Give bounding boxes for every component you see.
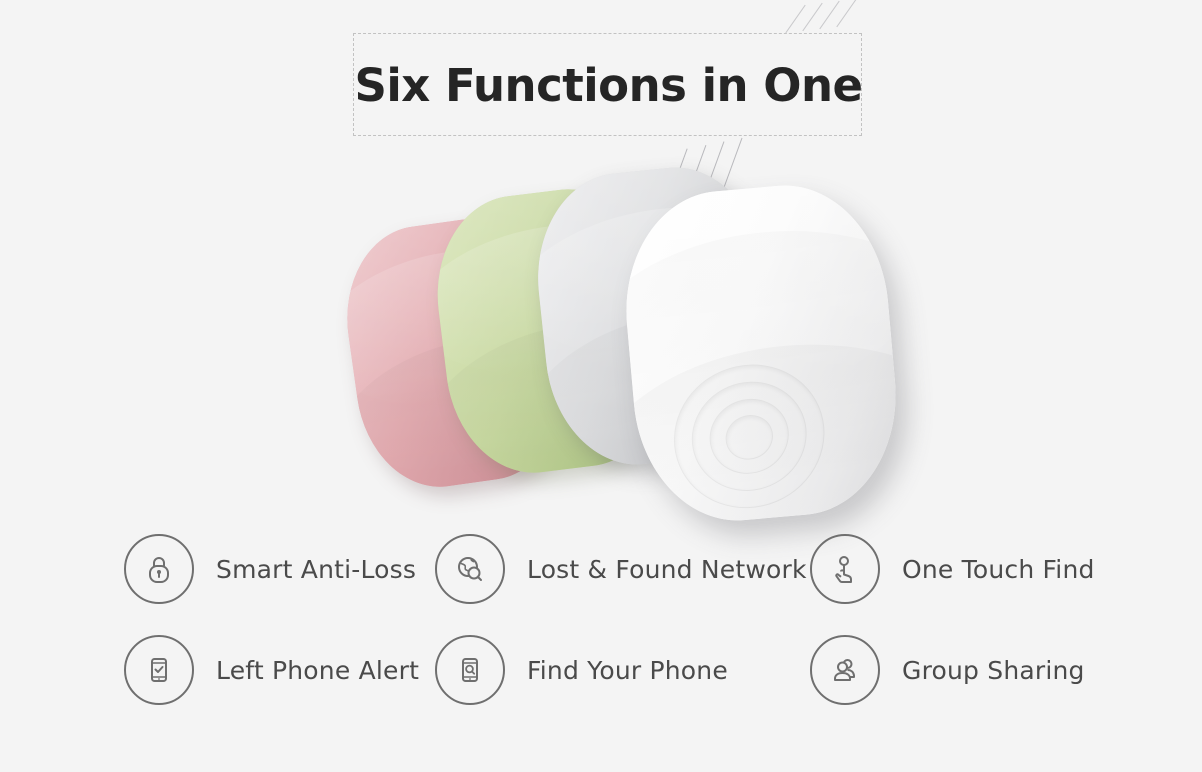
tracker-button-rings bbox=[667, 359, 829, 512]
tracker-device-white bbox=[616, 177, 906, 529]
feature-list: Smart Anti-Loss Lost & Found Network bbox=[0, 520, 1202, 730]
product-image bbox=[330, 150, 910, 550]
feature-item-group-sharing[interactable]: Group Sharing bbox=[810, 635, 1085, 705]
feature-label: Find Your Phone bbox=[527, 656, 728, 685]
feature-label: One Touch Find bbox=[902, 555, 1095, 584]
lock-icon bbox=[124, 534, 194, 604]
feature-item-left-phone-alert[interactable]: Left Phone Alert bbox=[124, 635, 419, 705]
feature-item-one-touch-find[interactable]: One Touch Find bbox=[810, 534, 1095, 604]
feature-item-find-your-phone[interactable]: Find Your Phone bbox=[435, 635, 728, 705]
feature-item-smart-anti-loss[interactable]: Smart Anti-Loss bbox=[124, 534, 416, 604]
feature-label: Lost & Found Network bbox=[527, 555, 807, 584]
page-title: Six Functions in One bbox=[354, 34, 863, 137]
decorative-hatch-4 bbox=[836, 0, 856, 27]
feature-label: Smart Anti-Loss bbox=[216, 555, 416, 584]
users-icon bbox=[810, 635, 880, 705]
phone-search-icon bbox=[435, 635, 505, 705]
feature-label: Group Sharing bbox=[902, 656, 1085, 685]
globe-search-icon bbox=[435, 534, 505, 604]
touch-hand-icon bbox=[810, 534, 880, 604]
feature-label: Left Phone Alert bbox=[216, 656, 419, 685]
phone-check-icon bbox=[124, 635, 194, 705]
feature-item-lost-and-found-network[interactable]: Lost & Found Network bbox=[435, 534, 807, 604]
title-box: Six Functions in One bbox=[353, 33, 862, 136]
product-feature-banner: Six Functions in One bbox=[0, 0, 1202, 772]
